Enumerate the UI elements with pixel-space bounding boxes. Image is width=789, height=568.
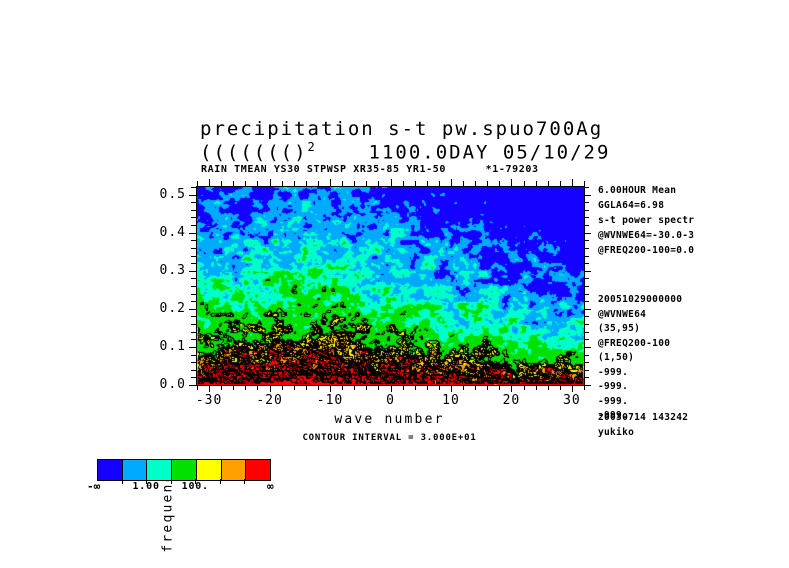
x-axis-tick	[342, 181, 343, 186]
x-axis-tick	[294, 181, 295, 186]
color-legend-segment	[171, 460, 196, 480]
x-axis-tick	[330, 179, 331, 186]
x-axis-tick	[306, 181, 307, 186]
annotation-line: 20051029000000	[598, 294, 682, 305]
x-axis-tick	[499, 181, 500, 186]
x-axis-tick	[282, 385, 283, 390]
title-close-paren: )	[294, 141, 307, 163]
x-axis-tick	[294, 385, 295, 390]
color-legend-segment	[196, 460, 221, 480]
y-axis-tick	[584, 294, 589, 295]
y-axis-tick	[191, 355, 196, 356]
x-axis-tick	[524, 385, 525, 390]
y-axis-tick	[189, 233, 196, 234]
annotation-line: (35,95)	[598, 323, 640, 334]
title-superscript: 2	[308, 140, 315, 154]
spectrum-plot-area	[196, 186, 585, 386]
y-axis-tick	[191, 316, 196, 317]
y-axis-tick	[191, 248, 196, 249]
annotation-line: @FREQ200-100	[598, 338, 670, 349]
y-axis-tick	[191, 278, 196, 279]
x-axis-tick-label: 30	[542, 393, 602, 408]
y-axis-tick	[191, 377, 196, 378]
color-legend-segment	[122, 460, 147, 480]
x-axis-tick	[318, 385, 319, 390]
y-axis-tick	[584, 339, 589, 340]
x-axis-tick	[378, 385, 379, 390]
x-axis-title: wave number	[196, 412, 583, 427]
y-axis-tick	[191, 339, 196, 340]
x-axis-tick	[487, 385, 488, 390]
annotation-line: -999.	[598, 381, 628, 392]
x-axis-tick	[511, 179, 512, 186]
x-axis-tick	[548, 385, 549, 390]
y-axis-tick	[191, 263, 196, 264]
x-axis-tick	[221, 385, 222, 390]
x-axis-tick	[524, 181, 525, 186]
y-axis-tick	[584, 301, 589, 302]
x-axis-tick-label: 20	[481, 393, 541, 408]
y-axis-tick	[191, 187, 196, 188]
page-title: precipitation s-t pw.spuo700Ag	[200, 118, 603, 140]
x-axis-tick	[511, 385, 512, 392]
y-axis-tick	[191, 217, 196, 218]
y-axis-tick	[584, 385, 591, 386]
x-axis-tick-label: 0	[361, 393, 421, 408]
y-axis-tick	[584, 240, 589, 241]
y-axis-tick	[584, 355, 589, 356]
color-legend-tick	[244, 479, 245, 484]
y-axis-tick	[584, 263, 589, 264]
x-axis-tick	[270, 385, 271, 392]
x-axis-tick	[560, 181, 561, 186]
title-paren-group: (((((((	[200, 141, 294, 163]
y-axis-tick	[584, 271, 591, 272]
x-axis-tick	[439, 181, 440, 186]
x-axis-tick	[451, 385, 452, 392]
x-axis-tick	[439, 385, 440, 390]
y-axis-tick	[584, 202, 589, 203]
annotation-line: (1,50)	[598, 352, 634, 363]
y-axis-tick	[584, 187, 589, 188]
x-axis-tick	[233, 181, 234, 186]
annotation-line: @WVNWE64	[598, 309, 646, 320]
x-axis-tick	[306, 385, 307, 390]
y-axis-tick	[584, 233, 591, 234]
x-axis-tick	[354, 385, 355, 390]
y-axis-tick	[584, 248, 589, 249]
y-axis-tick	[584, 362, 589, 363]
x-axis-tick	[403, 385, 404, 390]
annotation-line: yukiko	[598, 427, 634, 438]
y-axis-tick	[191, 294, 196, 295]
y-axis-tick	[189, 309, 196, 310]
x-axis-tick-label: -10	[300, 393, 360, 408]
y-axis-tick	[191, 240, 196, 241]
x-axis-tick	[415, 385, 416, 390]
y-axis-tick	[191, 286, 196, 287]
annotation-line: @FREQ200-100=0.0	[598, 245, 694, 256]
x-axis-tick	[245, 385, 246, 390]
title-second-line: ((((((()2 1100.0DAY 05/10/29	[200, 140, 610, 163]
x-axis-tick	[415, 181, 416, 186]
y-axis-tick	[584, 377, 589, 378]
x-axis-tick	[463, 385, 464, 390]
y-axis-tick	[191, 225, 196, 226]
x-axis-tick	[245, 181, 246, 186]
x-axis-tick	[378, 181, 379, 186]
x-axis-tick	[221, 181, 222, 186]
annotation-line: 6.00HOUR Mean	[598, 185, 676, 196]
annotation-line: -999.	[598, 367, 628, 378]
y-axis-tick	[584, 316, 589, 317]
y-axis-tick	[584, 309, 591, 310]
x-axis-tick	[209, 179, 210, 186]
y-axis-tick	[584, 324, 589, 325]
y-axis-tick	[584, 195, 591, 196]
x-axis-tick	[233, 385, 234, 390]
y-axis-tick	[191, 324, 196, 325]
y-axis-tick-label: 0.5	[134, 187, 186, 202]
x-axis-tick	[282, 181, 283, 186]
color-legend-min-symbol: -∞	[87, 480, 100, 493]
x-axis-tick	[572, 179, 573, 186]
x-axis-tick	[548, 181, 549, 186]
x-axis-tick	[391, 179, 392, 186]
x-axis-tick	[257, 181, 258, 186]
x-axis-tick	[463, 181, 464, 186]
x-axis-tick	[354, 181, 355, 186]
x-axis-tick	[342, 385, 343, 390]
annotation-line: -999.	[598, 396, 628, 407]
x-axis-tick	[209, 385, 210, 392]
x-axis-tick	[499, 385, 500, 390]
contour-interval-note: CONTOUR INTERVAL = 3.000E+01	[196, 433, 583, 443]
x-axis-tick	[391, 385, 392, 392]
x-axis-tick	[475, 385, 476, 390]
y-axis-tick	[584, 278, 589, 279]
y-axis-tick	[584, 217, 589, 218]
y-axis-title-wrapper: frequency	[142, 225, 162, 345]
annotation-line: 20030714 143242	[598, 412, 688, 423]
y-axis-tick	[584, 286, 589, 287]
y-axis-tick	[584, 256, 589, 257]
x-axis-tick	[318, 181, 319, 186]
annotation-line: @WVNWE64=-30.0-3	[598, 230, 694, 241]
color-legend-value-label: 100.	[165, 481, 225, 492]
subtitle-parameters: RAIN TMEAN YS30 STPWSP XR35-85 YR1-50 *1…	[201, 164, 539, 175]
color-legend-segment	[221, 460, 246, 480]
y-axis-tick	[584, 225, 589, 226]
x-axis-tick	[257, 385, 258, 390]
x-axis-tick	[572, 385, 573, 392]
annotation-line: GGLA64=6.98	[598, 200, 664, 211]
color-legend-segment	[98, 460, 122, 480]
x-axis-tick	[536, 385, 537, 390]
x-axis-tick	[197, 181, 198, 186]
x-axis-tick	[330, 385, 331, 392]
y-axis-tick	[189, 271, 196, 272]
y-axis-tick	[189, 347, 196, 348]
x-axis-tick	[536, 181, 537, 186]
x-axis-tick	[366, 385, 367, 390]
x-axis-tick	[451, 179, 452, 186]
x-axis-tick	[366, 181, 367, 186]
y-axis-tick	[189, 385, 196, 386]
x-axis-tick	[270, 179, 271, 186]
x-axis-tick	[487, 181, 488, 186]
y-axis-tick	[584, 332, 589, 333]
y-axis-tick	[191, 210, 196, 211]
color-legend-bar	[97, 459, 271, 481]
x-axis-tick-label: -20	[240, 393, 300, 408]
y-axis-tick	[191, 332, 196, 333]
x-axis-tick-label: -30	[179, 393, 239, 408]
y-axis-tick-label: 0.0	[134, 377, 186, 392]
x-axis-tick	[584, 181, 585, 186]
y-axis-tick	[191, 256, 196, 257]
title-date-range: 1100.0DAY 05/10/29	[315, 141, 611, 163]
x-axis-tick	[427, 385, 428, 390]
y-axis-tick	[191, 370, 196, 371]
x-axis-tick	[197, 385, 198, 390]
x-axis-tick	[560, 385, 561, 390]
annotation-line: s-t power spectr	[598, 215, 694, 226]
x-axis-tick	[475, 181, 476, 186]
x-axis-tick	[403, 181, 404, 186]
y-axis-tick	[584, 210, 589, 211]
y-axis-tick	[191, 362, 196, 363]
y-axis-tick	[191, 301, 196, 302]
color-legend-segment	[146, 460, 171, 480]
y-axis-tick	[189, 195, 196, 196]
y-axis-tick	[191, 202, 196, 203]
color-legend-max-symbol: ∞	[267, 480, 274, 493]
y-axis-tick	[584, 370, 589, 371]
x-axis-tick-label: 10	[421, 393, 481, 408]
x-axis-tick	[427, 181, 428, 186]
y-axis-tick	[584, 347, 591, 348]
spectrum-heatmap-canvas	[197, 187, 584, 385]
color-legend-segment	[245, 460, 270, 480]
